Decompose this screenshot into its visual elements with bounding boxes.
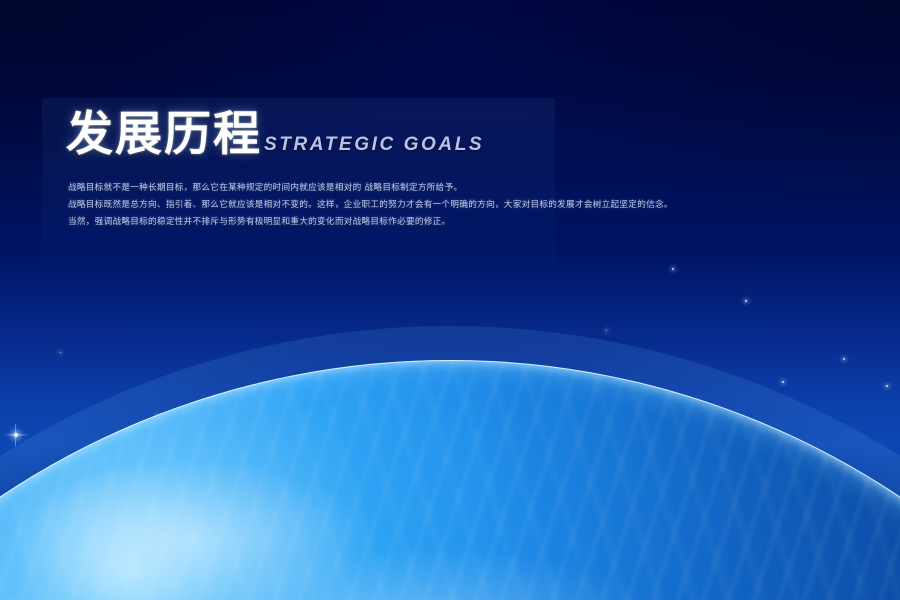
strategic-goals-banner: 发展历程 STRATEGIC GOALS 战略目标就不是一种长期目标，那么它在某… [0,0,900,600]
page-title: 发展历程 [66,110,262,160]
body-line-1: 战略目标就不是一种长期目标，那么它在某种规定的时间内就应该是相对的 战略目标制定… [68,180,898,197]
body-line-3: 当然，强调战略目标的稳定性并不排斥与形势有极明显和重大的变化而对战略目标作必要的… [68,214,898,231]
body-line-2: 战略目标既然是总方向、指引着、那么它就应该是相对不变的。这样，企业职工的努力才会… [68,197,898,214]
space-sky-background [0,0,900,600]
title-row: 发展历程 STRATEGIC GOALS [66,110,484,160]
banner-content: 发展历程 STRATEGIC GOALS 战略目标就不是一种长期目标，那么它在某… [42,98,900,273]
body-paragraph: 战略目标就不是一种长期目标，那么它在某种规定的时间内就应该是相对的 战略目标制定… [68,180,898,231]
page-subtitle: STRATEGIC GOALS [264,134,484,160]
